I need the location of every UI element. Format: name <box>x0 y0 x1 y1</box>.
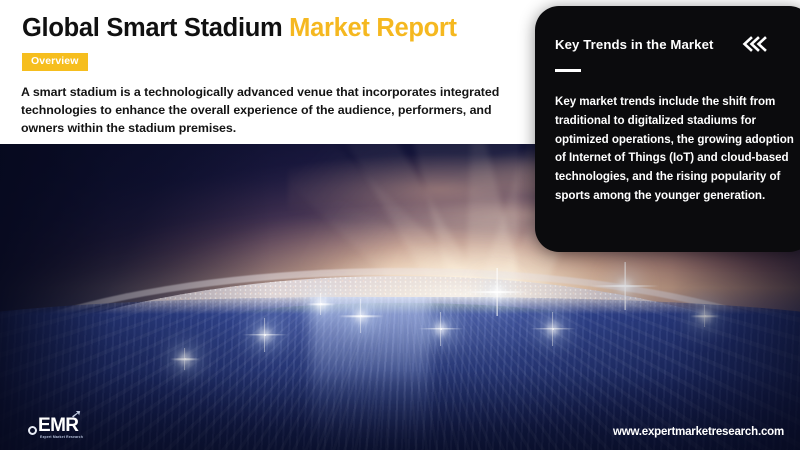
growth-arrow-icon: ➚ <box>70 406 83 420</box>
logo-tagline: Expert Market Research <box>40 435 83 439</box>
key-trends-card: Key Trends in the Market Key market tren… <box>535 6 800 252</box>
emr-logo: EMR ➚ Expert Market Research <box>28 416 78 436</box>
overview-paragraph: A smart stadium is a technologically adv… <box>21 83 537 138</box>
card-title-underline <box>555 69 581 72</box>
logo-text-wrapper: EMR ➚ Expert Market Research <box>38 416 78 436</box>
card-header: Key Trends in the Market <box>555 36 791 52</box>
page-title: Global Smart Stadium Market Report <box>22 14 457 43</box>
circle-icon <box>28 426 37 435</box>
chevron-double-left-icon[interactable] <box>740 36 770 52</box>
card-body-text: Key market trends include the shift from… <box>555 93 799 206</box>
page-title-main: Global Smart Stadium <box>22 14 289 42</box>
page-title-accent: Market Report <box>289 14 457 42</box>
card-title: Key Trends in the Market <box>555 37 714 52</box>
overview-badge: Overview <box>22 53 88 71</box>
website-url[interactable]: www.expertmarketresearch.com <box>613 426 784 438</box>
market-report-banner: Global Smart Stadium Market Report Overv… <box>0 0 800 450</box>
